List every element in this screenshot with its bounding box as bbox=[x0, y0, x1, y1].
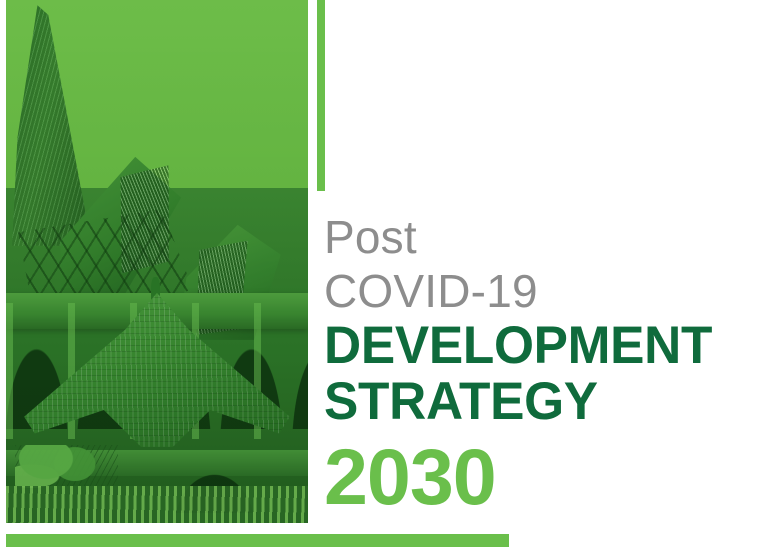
photo-illustration bbox=[6, 0, 308, 523]
title-pre-line-2: COVID-19 bbox=[324, 264, 744, 318]
title-main-line-1: DEVELOPMENT bbox=[324, 318, 731, 374]
bottom-accent-bar bbox=[6, 534, 509, 547]
title-main-line-2: STRATEGY bbox=[324, 374, 731, 430]
vertical-accent-bar bbox=[317, 0, 325, 191]
title-year: 2030 bbox=[324, 438, 744, 516]
cover-page: Post COVID-19 DEVELOPMENT STRATEGY 2030 bbox=[0, 0, 761, 549]
cover-photo bbox=[6, 0, 308, 523]
title-block: Post COVID-19 DEVELOPMENT STRATEGY 2030 bbox=[324, 210, 744, 516]
title-pre-line-1: Post bbox=[324, 210, 744, 264]
photo-hedge bbox=[6, 486, 308, 523]
